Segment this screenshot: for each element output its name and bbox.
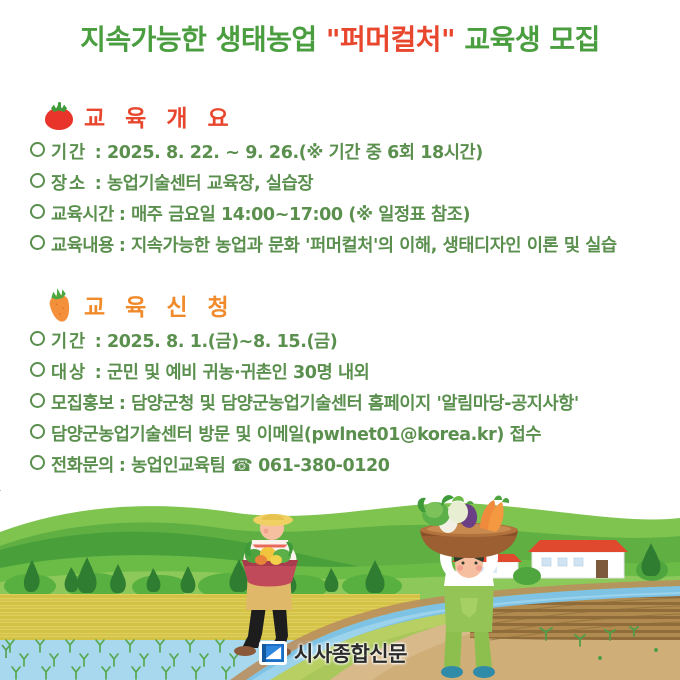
section-application-lines: 기 간 : 2025. 8. 1.(금)~8. 15.(금) 대 상 : 군민 … — [0, 327, 680, 482]
list-item-label2: 간 — [69, 327, 85, 358]
section-application-header: 교 육 신 청 — [0, 287, 680, 323]
bullet-circle-icon — [30, 204, 45, 219]
carrot-icon — [41, 285, 77, 324]
list-item-label: 모집홍보 — [51, 389, 114, 420]
section-overview: 교 육 개 요 기 간 : 2025. 8. 22. ~ 9. 26.(※ 기간… — [0, 98, 680, 262]
list-item-label2: 소 — [69, 169, 85, 200]
list-item-text: : 2025. 8. 1.(금)~8. 15.(금) — [95, 327, 338, 358]
list-item-label2: 간 — [69, 138, 85, 169]
list-item: 기 간 : 2025. 8. 1.(금)~8. 15.(금) — [30, 327, 680, 358]
list-item-text: : 담양군청 및 담양군농업기술센터 홈페이지 '알림마당-공지사항' — [119, 389, 579, 420]
bullet-circle-icon — [30, 362, 45, 377]
bullet-circle-icon — [30, 235, 45, 250]
poster-canvas: 지속가능한 생태농업 "퍼머컬처" 교육생 모집 교 육 개 요 기 간 : 2… — [0, 0, 680, 680]
section-overview-title: 교 육 개 요 — [84, 99, 235, 133]
list-item: 담양군농업기술센터 방문 및 이메일(pwlnet01@korea.kr) 접수 — [30, 420, 680, 451]
list-item-label: 담양군농업기술센터 — [51, 420, 192, 451]
list-item: 교육시간 : 매주 금요일 14:00~17:00 (※ 일정표 참조) — [30, 200, 680, 231]
watermark-logo: 시사종합신문 — [258, 638, 407, 668]
list-item-label2: 상 — [69, 358, 85, 389]
tomato-icon — [44, 102, 74, 130]
bullet-circle-icon — [30, 455, 45, 470]
list-item-text: : 2025. 8. 22. ~ 9. 26.(※ 기간 중 6회 18시간) — [95, 138, 483, 169]
section-overview-header: 교 육 개 요 — [0, 98, 680, 134]
list-item-text: : 매주 금요일 14:00~17:00 (※ 일정표 참조) — [119, 200, 470, 231]
list-item-text: 방문 및 이메일(pwlnet01@korea.kr) 접수 — [198, 420, 541, 451]
list-item-label: 교육시간 — [51, 200, 114, 231]
list-item: 기 간 : 2025. 8. 22. ~ 9. 26.(※ 기간 중 6회 18… — [30, 138, 680, 169]
bullet-circle-icon — [30, 393, 45, 408]
title-highlight: "퍼머컬처" — [326, 23, 455, 56]
list-item-label: 교육내용 — [51, 231, 114, 262]
list-item: 모집홍보 : 담양군청 및 담양군농업기술센터 홈페이지 '알림마당-공지사항' — [30, 389, 680, 420]
section-application: 교 육 신 청 기 간 : 2025. 8. 1.(금)~8. 15.(금) 대… — [0, 287, 680, 482]
section-application-title: 교 육 신 청 — [84, 288, 235, 322]
list-item: 장 소 : 농업기술센터 교육장, 실습장 — [30, 169, 680, 200]
section-overview-lines: 기 간 : 2025. 8. 22. ~ 9. 26.(※ 기간 중 6회 18… — [0, 138, 680, 262]
list-item-text: : 군민 및 예비 귀농·귀촌인 30명 내외 — [95, 358, 370, 389]
list-item: 교육내용 : 지속가능한 농업과 문화 '퍼머컬처'의 이해, 생태디자인 이론… — [30, 231, 680, 262]
list-item-text: : 농업인교육팀 ☎ 061-380-0120 — [119, 451, 390, 482]
list-item: 전화문의 : 농업인교육팀 ☎ 061-380-0120 — [30, 451, 680, 482]
bullet-circle-icon — [30, 424, 45, 439]
watermark-text: 시사종합신문 — [294, 638, 407, 668]
list-item-text: : 지속가능한 농업과 문화 '퍼머컬처'의 이해, 생태디자인 이론 및 실습 — [119, 231, 617, 262]
bullet-circle-icon — [30, 331, 45, 346]
title-part-1: 지속가능한 생태농업 — [80, 23, 326, 56]
list-item: 대 상 : 군민 및 예비 귀농·귀촌인 30명 내외 — [30, 358, 680, 389]
newspaper-book-icon — [258, 639, 288, 667]
list-item-label: 전화문의 — [51, 451, 114, 482]
title-part-2: 교육생 모집 — [455, 23, 600, 56]
page-title: 지속가능한 생태농업 "퍼머컬처" 교육생 모집 — [0, 18, 680, 58]
list-item-text: : 농업기술센터 교육장, 실습장 — [95, 169, 313, 200]
bullet-circle-icon — [30, 173, 45, 188]
bullet-circle-icon — [30, 142, 45, 157]
